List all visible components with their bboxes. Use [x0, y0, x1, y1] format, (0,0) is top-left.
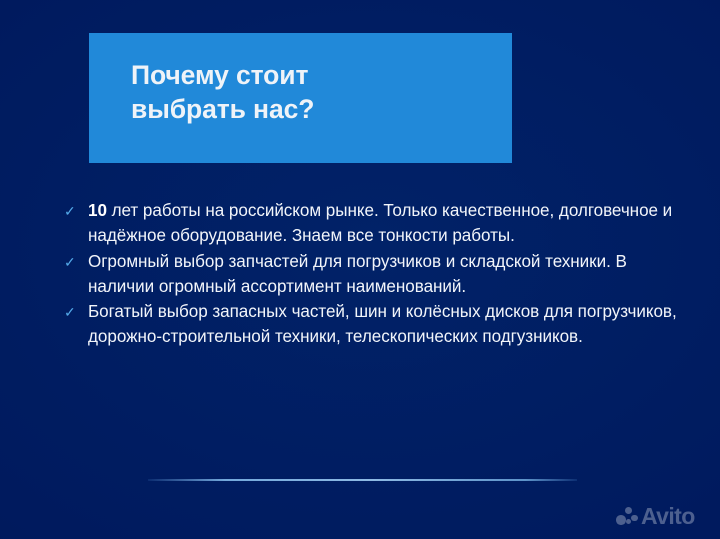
- page-title: Почему стоит выбрать нас?: [131, 58, 501, 127]
- list-item-body: Огромный выбор запчастей для погрузчиков…: [88, 252, 627, 296]
- check-icon: ✓: [64, 300, 88, 319]
- list-item-lead: 10: [88, 201, 107, 220]
- avito-dots-logo-icon: [616, 507, 638, 529]
- list-item-text: 10 лет работы на российском рынке. Тольк…: [88, 199, 684, 249]
- slide-canvas: Почему стоит выбрать нас? ✓ 10 лет работ…: [0, 0, 720, 539]
- check-icon: ✓: [64, 250, 88, 269]
- avito-wordmark: Avito: [641, 505, 695, 530]
- list-item: ✓ Огромный выбор запчастей для погрузчик…: [64, 250, 684, 300]
- list-item-body: лет работы на российском рынке. Только к…: [88, 201, 672, 245]
- horizontal-divider: [148, 479, 577, 481]
- check-icon: ✓: [64, 199, 88, 218]
- title-banner: Почему стоит выбрать нас?: [89, 33, 512, 163]
- list-item-text: Огромный выбор запчастей для погрузчиков…: [88, 250, 684, 300]
- list-item-body: Богатый выбор запасных частей, шин и кол…: [88, 302, 677, 346]
- avito-watermark: Avito: [616, 505, 695, 530]
- list-item: ✓ Богатый выбор запасных частей, шин и к…: [64, 300, 684, 350]
- benefits-list: ✓ 10 лет работы на российском рынке. Тол…: [64, 199, 684, 351]
- list-item-text: Богатый выбор запасных частей, шин и кол…: [88, 300, 684, 350]
- list-item: ✓ 10 лет работы на российском рынке. Тол…: [64, 199, 684, 249]
